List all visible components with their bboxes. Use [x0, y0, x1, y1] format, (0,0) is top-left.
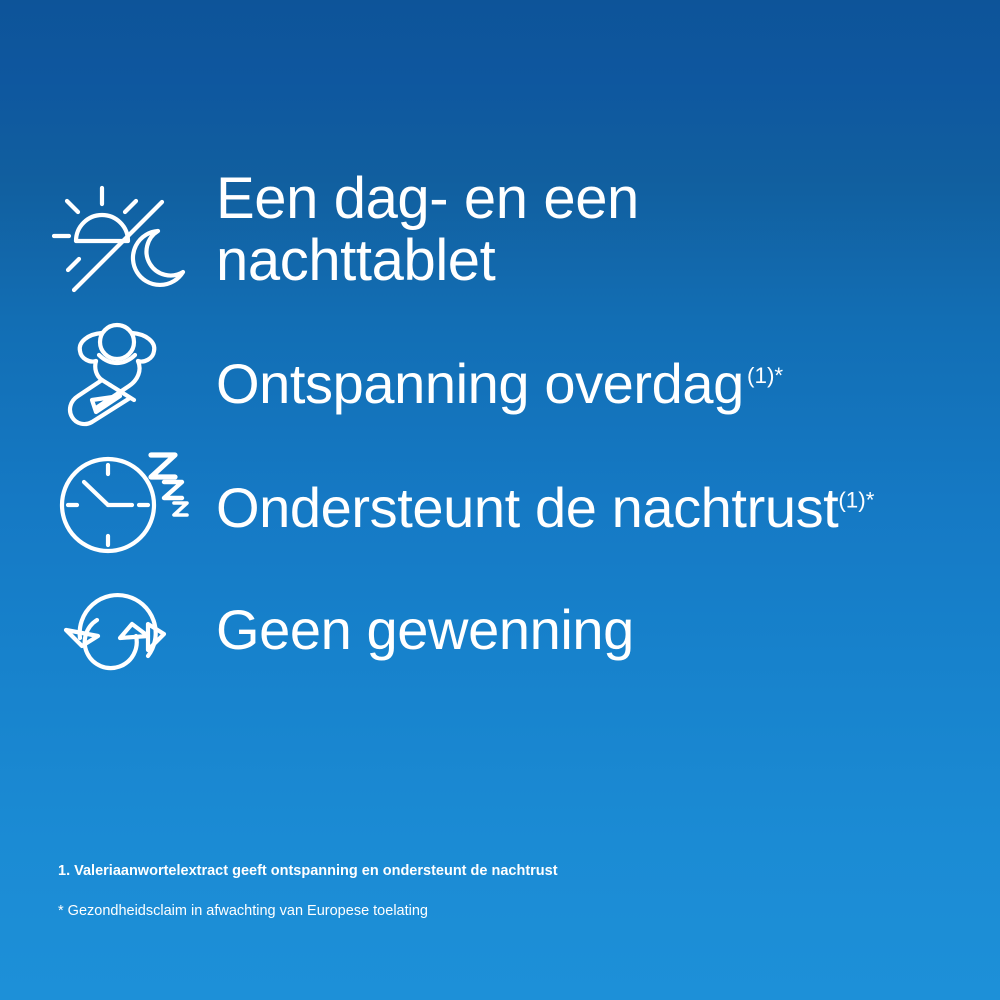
footnote-asterisk: * Gezondheidsclaim in afwachting van Eur… — [58, 902, 938, 921]
feature-superscript: (1)* — [747, 363, 783, 388]
feature-label: Geen gewenning — [216, 600, 634, 660]
feature-superscript: (1)* — [838, 487, 874, 512]
reclining-person-icon — [52, 316, 202, 440]
footnotes: 1. Valeriaanwortelextract geeft ontspann… — [58, 862, 938, 921]
feature-label-text: Ontspanning overdag — [216, 352, 744, 415]
footnote-reference-1: 1. Valeriaanwortelextract geeft ontspann… — [58, 862, 938, 881]
feature-row: Geen gewenning — [52, 578, 634, 680]
promo-poster: Een dag- en een nachttablet — [0, 0, 1000, 1000]
feature-label: Ondersteunt de nachtrust(1)* — [216, 478, 874, 538]
feature-row: Een dag- en een nachttablet — [52, 168, 639, 299]
sun-moon-icon — [52, 168, 202, 299]
feature-row: Ontspanning overdag(1)* — [52, 316, 783, 440]
feature-label: Ontspanning overdag(1)* — [216, 354, 783, 414]
cycle-arrows-icon — [52, 578, 202, 680]
feature-label-text: Ondersteunt de nachtrust — [216, 476, 838, 539]
feature-label: Een dag- en een nachttablet — [216, 168, 639, 292]
clock-zzz-icon — [52, 442, 202, 561]
feature-row: Ondersteunt de nachtrust(1)* — [52, 442, 874, 561]
